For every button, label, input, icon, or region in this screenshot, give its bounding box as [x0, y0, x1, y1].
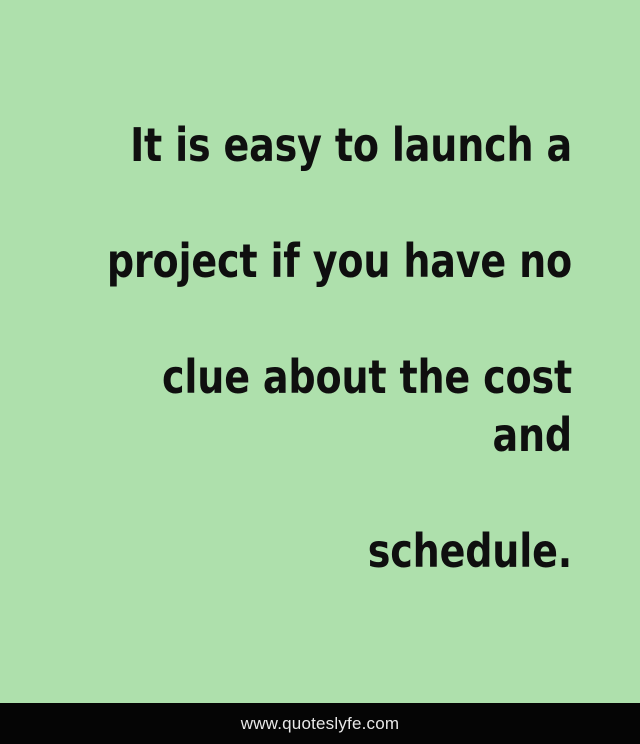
quote-line: project if you have no: [101, 232, 572, 290]
quote-content-area: It is easy to launch a project if you ha…: [0, 0, 640, 703]
quote-line: schedule.: [101, 522, 572, 580]
quote-line: It is easy to launch a: [101, 116, 572, 174]
footer-bar: www.quoteslyfe.com: [0, 703, 640, 744]
website-url[interactable]: www.quoteslyfe.com: [241, 715, 400, 732]
quote-line: clue about the cost and: [101, 348, 572, 464]
quote-card: It is easy to launch a project if you ha…: [0, 0, 640, 744]
quote-text: It is easy to launch a project if you ha…: [101, 52, 572, 638]
